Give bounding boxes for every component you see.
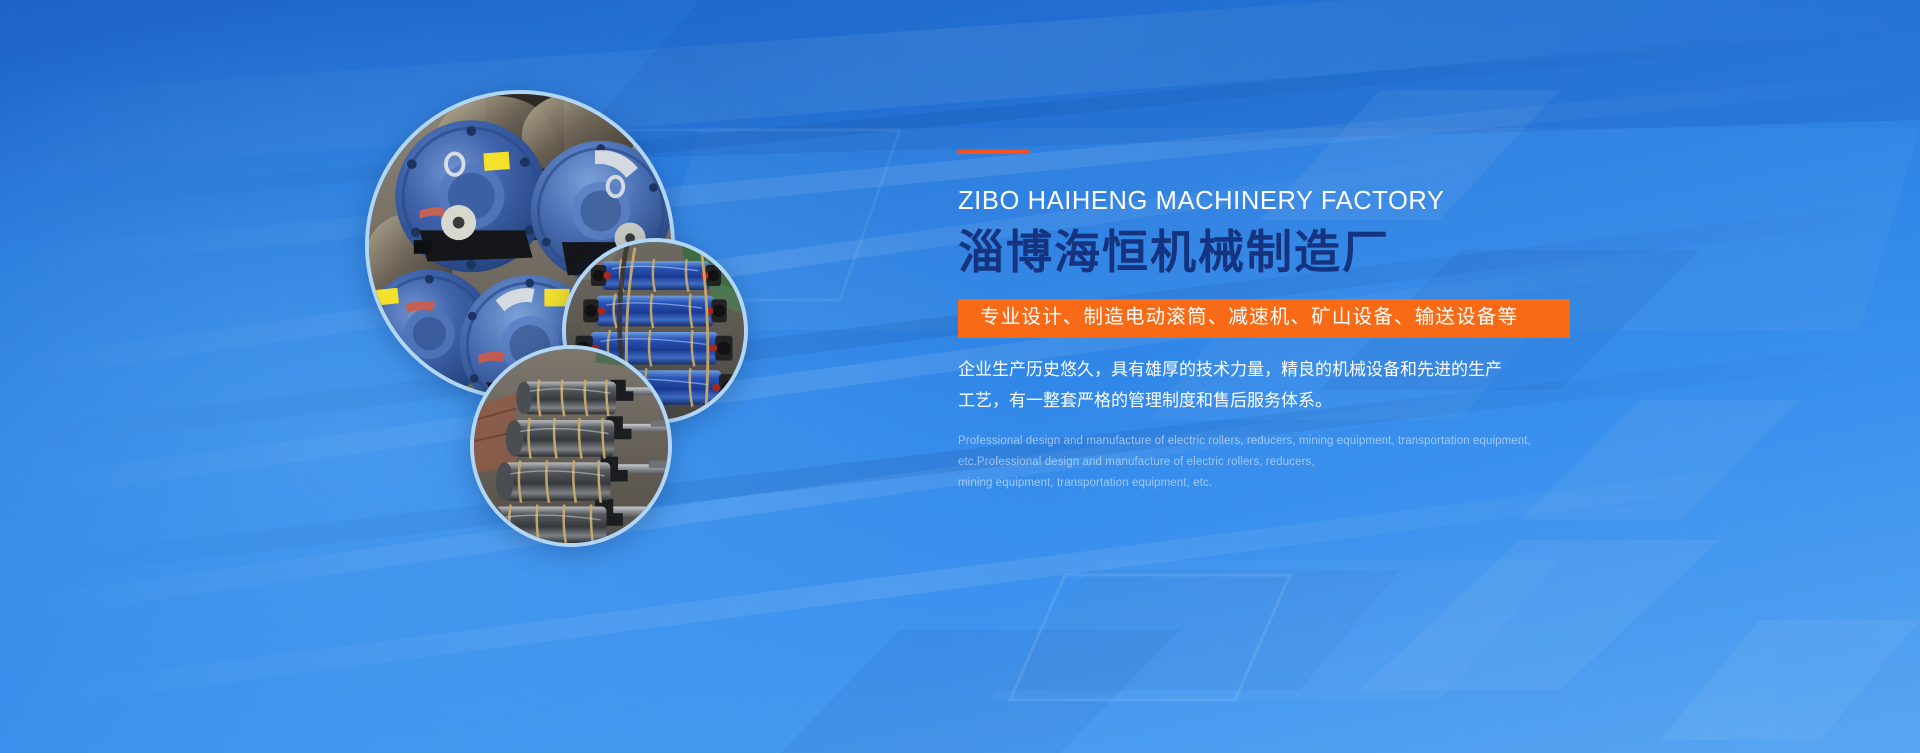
company-name-english: ZIBO HAIHENG MACHINERY FACTORY: [958, 187, 1658, 215]
description-chinese: 企业生产历史悠久，具有雄厚的技术力量，精良的机械设备和先进的生产 工艺，有一整套…: [958, 354, 1518, 417]
description-english-line-1: Professional design and manufacture of e…: [958, 431, 1538, 452]
hero-banner: ZIBO HAIHENG MACHINERY FACTORY 淄博海恒机械制造厂…: [0, 0, 1920, 753]
description-english-line-2: etc.Professional design and manufacture …: [958, 452, 1538, 473]
description-chinese-line-1: 企业生产历史悠久，具有雄厚的技术力量，精良的机械设备和先进的生产: [958, 354, 1518, 385]
accent-bar: [958, 150, 1030, 154]
hero-text-block: ZIBO HAIHENG MACHINERY FACTORY 淄博海恒机械制造厂…: [958, 150, 1658, 494]
description-english-line-3: mining equipment, transportation equipme…: [958, 473, 1538, 494]
company-name-chinese: 淄博海恒机械制造厂: [958, 226, 1658, 279]
slogan-banner: 专业设计、制造电动滚筒、减速机、矿山设备、输送设备等: [958, 299, 1570, 337]
photo-conveyor-roller-shafts: [470, 345, 672, 547]
description-english: Professional design and manufacture of e…: [958, 431, 1538, 495]
description-chinese-line-2: 工艺，有一整套严格的管理制度和售后服务体系。: [958, 385, 1518, 416]
product-photo-cluster: [280, 70, 800, 630]
